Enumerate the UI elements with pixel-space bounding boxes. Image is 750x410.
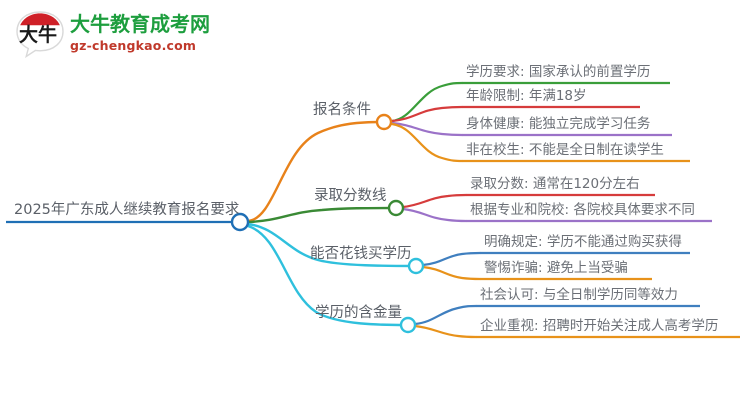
leaf-label-b4-2[interactable]: 企业重视: 招聘时开始关注成人高考学历 xyxy=(480,320,718,334)
connector-b2-leaf-2 xyxy=(403,209,466,221)
leaf-label-b1-1[interactable]: 学历要求: 国家承认的前置学历 xyxy=(466,66,650,80)
connector-b2-leaf-1 xyxy=(403,195,466,207)
branch-label-3[interactable]: 能否花钱买学历 xyxy=(310,247,412,262)
connector-b3-leaf-2 xyxy=(423,267,480,279)
branch-label-2[interactable]: 录取分数线 xyxy=(314,189,387,204)
branch-label-4[interactable]: 学历的含金量 xyxy=(315,306,402,321)
connector-b1-leaf-3 xyxy=(392,123,462,135)
leaf-label-b1-3[interactable]: 身体健康: 能独立完成学习任务 xyxy=(466,118,650,132)
connector-b1-leaf-2 xyxy=(392,107,462,121)
leaf-label-b3-1[interactable]: 明确规定: 学历不能通过购买获得 xyxy=(484,236,682,250)
leaf-label-b1-4[interactable]: 非在校生: 不能是全日制在读学生 xyxy=(466,144,664,158)
leaf-label-b4-1[interactable]: 社会认可: 与全日制学历同等效力 xyxy=(480,289,678,303)
connector-root-to-branch-2 xyxy=(248,208,394,222)
branch-node-circle-4[interactable] xyxy=(401,318,415,332)
leaf-label-b2-2[interactable]: 根据专业和院校: 各院校具体要求不同 xyxy=(470,204,695,218)
connector-b4-leaf-2 xyxy=(415,326,476,337)
connector-b1-leaf-4 xyxy=(392,124,462,161)
connector-root-to-branch-1 xyxy=(248,122,384,221)
connector-b3-leaf-1 xyxy=(423,253,480,265)
connector-b4-leaf-1 xyxy=(415,306,476,324)
branch-node-circle-1[interactable] xyxy=(377,115,391,129)
leaf-label-b3-2[interactable]: 警惕诈骗: 避免上当受骗 xyxy=(484,262,628,276)
connector-b1-leaf-1 xyxy=(392,83,462,121)
root-node-label[interactable]: 2025年广东成人继续教育报名要求 xyxy=(14,203,239,218)
leaf-label-b1-2[interactable]: 年龄限制: 年满18岁 xyxy=(466,90,587,104)
leaf-label-b2-1[interactable]: 录取分数: 通常在120分左右 xyxy=(470,178,640,192)
branch-node-circle-2[interactable] xyxy=(389,201,403,215)
branch-label-1[interactable]: 报名条件 xyxy=(313,103,371,118)
